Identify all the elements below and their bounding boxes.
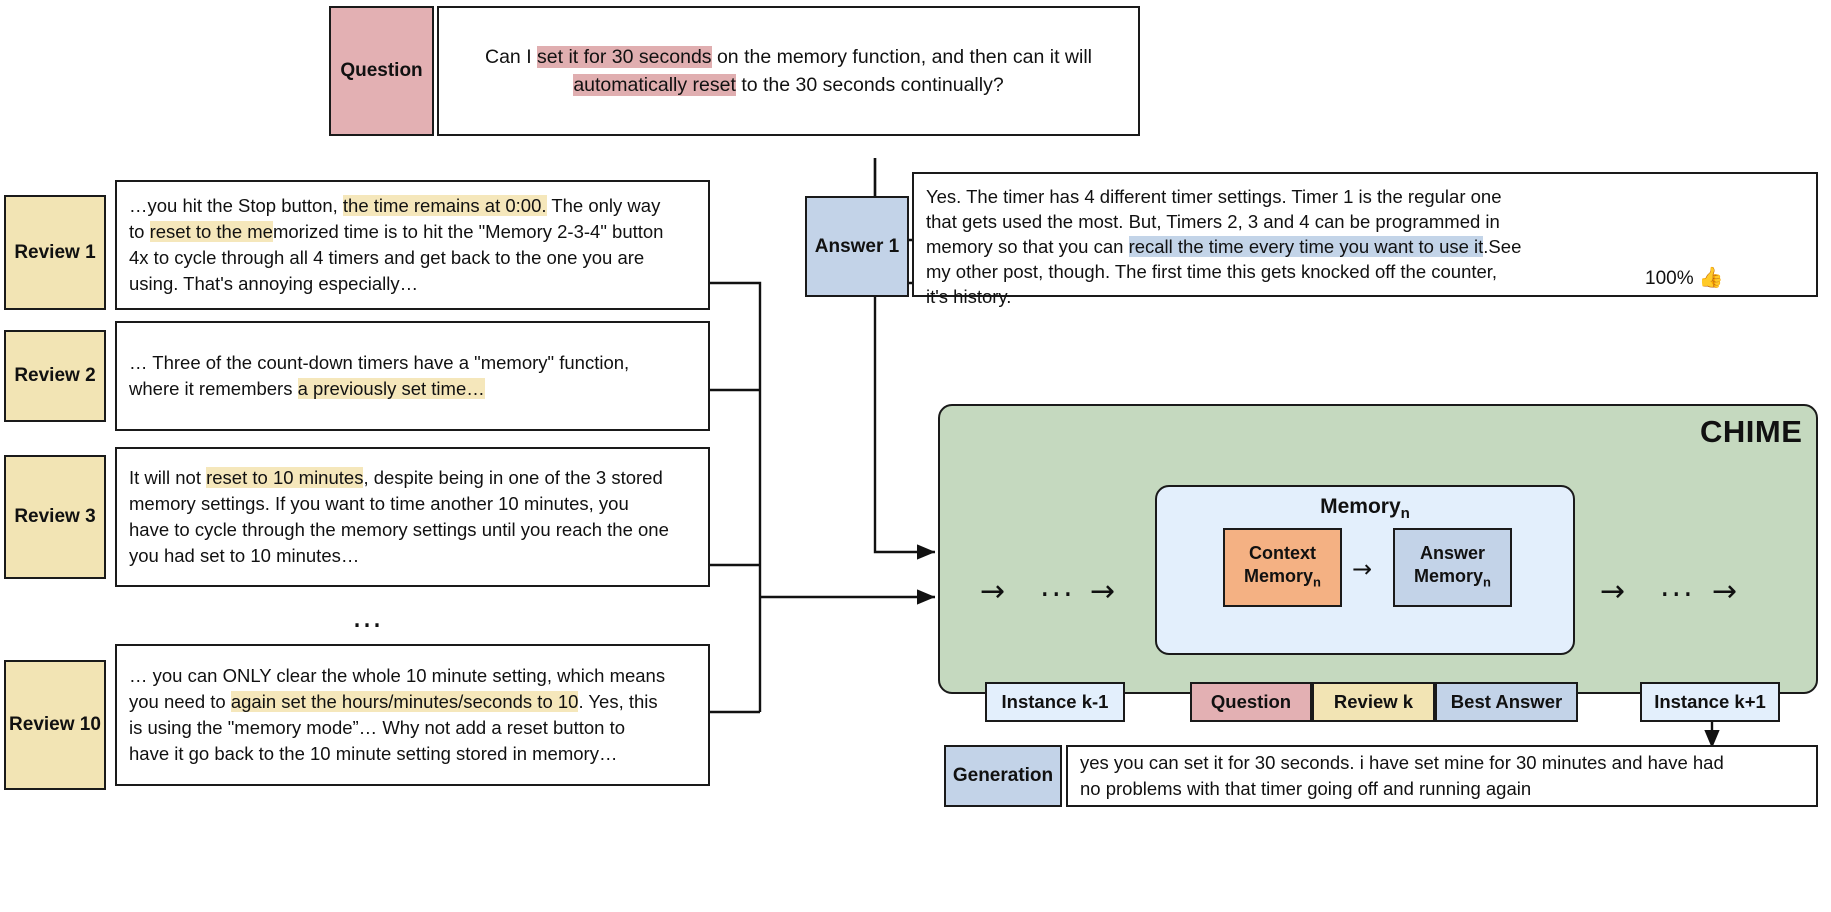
answer-1-label: Answer 1 xyxy=(805,196,909,297)
context-memory-sub: n xyxy=(1313,574,1321,589)
review-1-label-text: Review 1 xyxy=(14,242,95,264)
answer-1-rich-text: Yes. The timer has 4 different timer set… xyxy=(926,184,1804,309)
chime-best-answer-box: Best Answer xyxy=(1435,682,1578,722)
context-memory-box: Context Memoryn xyxy=(1223,528,1342,607)
text-highlight: reset to 10 minutes xyxy=(206,467,363,488)
text-run: It will not xyxy=(129,467,206,488)
review-1-label: Review 1 xyxy=(4,195,106,310)
review-10-rich-text: … you can ONLY clear the whole 10 minute… xyxy=(129,663,696,767)
memory-inner-arrow: → xyxy=(1352,557,1372,581)
question-label: Question xyxy=(329,6,434,136)
memory-n-title: Memoryn xyxy=(1155,495,1575,522)
generation-line-2: no problems with that timer going off an… xyxy=(1080,778,1531,799)
question-text-pre: Can I xyxy=(485,46,537,68)
text-run: … you can ONLY clear the whole 10 minute… xyxy=(129,665,665,686)
answer-memory-line2-wrap: Memoryn xyxy=(1414,565,1491,594)
text-run: The only way xyxy=(547,195,661,216)
generation-text: yes you can set it for 30 seconds. i hav… xyxy=(1080,750,1804,802)
answer-1-score-value: 100% xyxy=(1645,268,1694,289)
chime-left-arrow-1: → xyxy=(980,577,1005,607)
review-10-text-box: … you can ONLY clear the whole 10 minute… xyxy=(115,644,710,786)
review-3-label-text: Review 3 xyxy=(14,506,95,528)
text-run: … Three of the count-down timers have a … xyxy=(129,352,629,373)
question-highlight-2: automatically reset xyxy=(573,74,736,96)
text-run: 4x to cycle through all 4 timers and get… xyxy=(129,247,644,268)
review-3-rich-text: It will not reset to 10 minutes, despite… xyxy=(129,465,696,569)
review-2-label: Review 2 xyxy=(4,330,106,422)
question-text-post: to the 30 seconds continually? xyxy=(736,74,1004,96)
memory-n-title-main: Memory xyxy=(1320,495,1401,518)
text-highlight: again set the hours/minutes/seconds to 1… xyxy=(231,691,579,712)
chime-left-arrow-2: → xyxy=(1090,577,1115,607)
chime-question-label: Question xyxy=(1211,691,1291,713)
question-text-mid: on the memory function, and then can it … xyxy=(712,46,1092,68)
review-1-text-box: …you hit the Stop button, the time remai… xyxy=(115,180,710,310)
text-run: …you hit the Stop button, xyxy=(129,195,343,216)
text-run: memory settings. If you want to time ano… xyxy=(129,493,629,514)
text-run: that gets used the most. But, Timers 2, … xyxy=(926,211,1500,232)
chime-left-dots: ... xyxy=(1040,572,1075,602)
review-10-label-text: Review 10 xyxy=(9,714,101,736)
chime-question-box: Question xyxy=(1190,682,1312,722)
question-text-box: Can I set it for 30 seconds on the memor… xyxy=(437,6,1140,136)
review-2-rich-text: … Three of the count-down timers have a … xyxy=(129,350,696,402)
text-highlight: the time remains at 0:00. xyxy=(343,195,547,216)
text-highlight: recall the time every time you want to u… xyxy=(1129,236,1484,257)
text-run: have to cycle through the memory setting… xyxy=(129,519,669,540)
generation-label-text: Generation xyxy=(953,765,1053,787)
text-highlight: reset to the me xyxy=(150,221,273,242)
review-3-text-box: It will not reset to 10 minutes, despite… xyxy=(115,447,710,587)
memory-n-title-sub: n xyxy=(1401,505,1410,522)
text-run: to xyxy=(129,221,150,242)
chime-best-answer-label: Best Answer xyxy=(1451,691,1562,713)
question-highlight-1: set it for 30 seconds xyxy=(537,46,712,68)
context-memory-line2: Memory xyxy=(1244,566,1313,586)
answer-1-score: 100% 👍 xyxy=(1645,265,1724,290)
text-run: , despite being in one of the 3 stored xyxy=(363,467,662,488)
review-3-label: Review 3 xyxy=(4,455,106,579)
instance-prev-box: Instance k-1 xyxy=(985,682,1125,722)
chime-right-arrow-2: → xyxy=(1712,577,1737,607)
text-highlight: a previously set time… xyxy=(298,378,485,399)
answer-memory-sub: n xyxy=(1483,574,1491,589)
question-label-text: Question xyxy=(340,60,422,82)
generation-label: Generation xyxy=(944,745,1062,807)
text-run: is using the "memory mode”… Why not add … xyxy=(129,717,625,738)
reviews-ellipsis: … xyxy=(352,600,382,635)
text-run: .See xyxy=(1483,236,1521,257)
instance-next-label: Instance k+1 xyxy=(1654,691,1766,713)
chime-right-arrow-1: → xyxy=(1600,577,1625,607)
chime-title: CHIME xyxy=(1700,414,1802,450)
answer-1-label-text: Answer 1 xyxy=(815,236,899,258)
generation-text-box: yes you can set it for 30 seconds. i hav… xyxy=(1066,745,1818,807)
text-run: my other post, though. The first time th… xyxy=(926,261,1497,282)
chime-right-dots: ... xyxy=(1660,572,1695,602)
review-10-label: Review 10 xyxy=(4,660,106,790)
chime-review-box: Review k xyxy=(1312,682,1435,722)
text-run: it's history. xyxy=(926,286,1011,307)
answer-memory-line1: Answer xyxy=(1420,542,1485,565)
text-run: have it go back to the 10 minute setting… xyxy=(129,743,617,764)
text-run: Yes. The timer has 4 different timer set… xyxy=(926,186,1502,207)
context-memory-line1: Context xyxy=(1249,542,1316,565)
text-run: using. That's annoying especially… xyxy=(129,273,418,294)
chime-review-label: Review k xyxy=(1334,691,1413,713)
text-run: morized time is to hit the "Memory 2-3-4… xyxy=(273,221,663,242)
generation-line-1: yes you can set it for 30 seconds. i hav… xyxy=(1080,752,1724,773)
text-run: where it remembers xyxy=(129,378,298,399)
answer-memory-box: Answer Memoryn xyxy=(1393,528,1512,607)
text-run: you need to xyxy=(129,691,231,712)
context-memory-line2-wrap: Memoryn xyxy=(1244,565,1321,594)
diagram-canvas: Question Can I set it for 30 seconds on … xyxy=(0,0,1831,912)
instance-prev-label: Instance k-1 xyxy=(1002,691,1109,713)
thumbs-up-icon: 👍 xyxy=(1699,267,1724,289)
review-2-label-text: Review 2 xyxy=(14,365,95,387)
answer-memory-line2: Memory xyxy=(1414,566,1483,586)
instance-next-box: Instance k+1 xyxy=(1640,682,1780,722)
review-1-rich-text: …you hit the Stop button, the time remai… xyxy=(129,193,696,297)
review-2-text-box: … Three of the count-down timers have a … xyxy=(115,321,710,431)
text-run: . Yes, this xyxy=(578,691,657,712)
text-run: memory so that you can xyxy=(926,236,1129,257)
text-run: you had set to 10 minutes… xyxy=(129,545,359,566)
